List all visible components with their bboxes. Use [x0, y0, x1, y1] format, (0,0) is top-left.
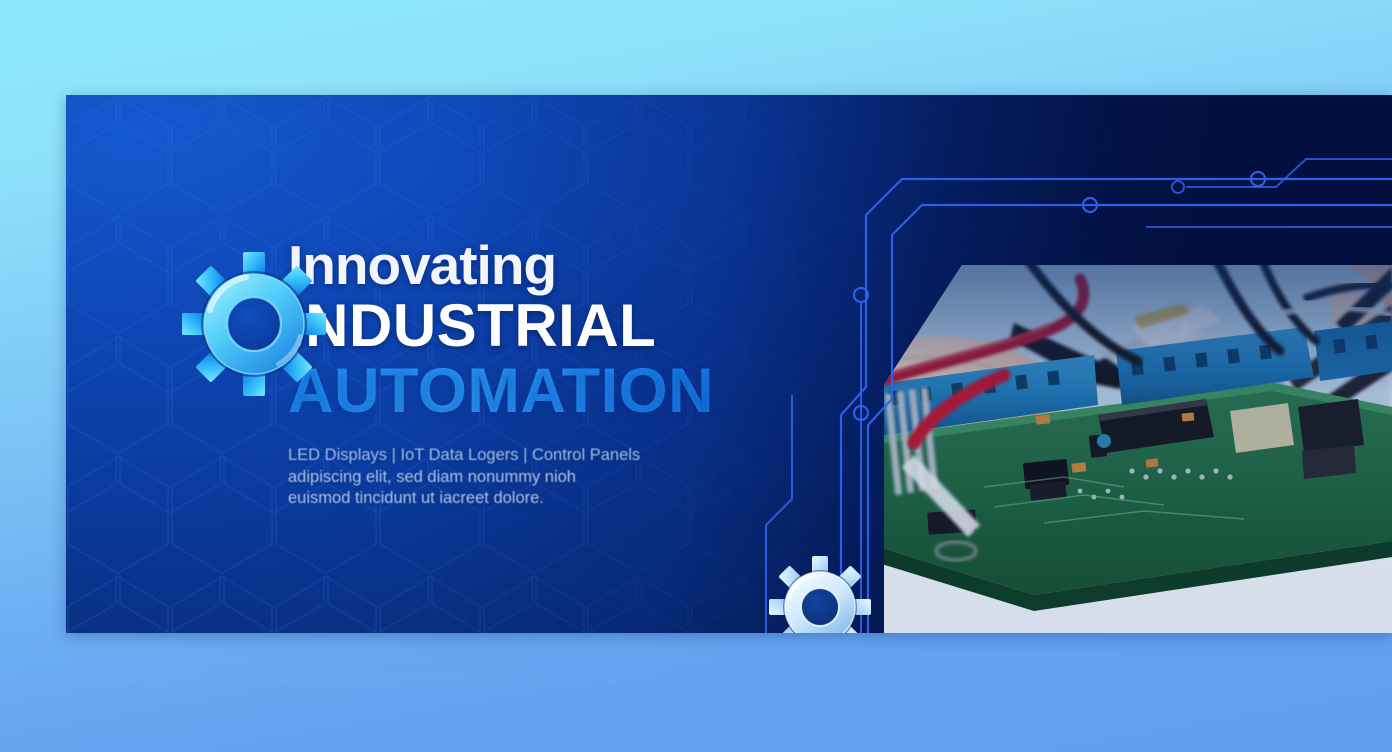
subtext-line-2: adipiscing elit, sed diam nonummy nioh: [288, 467, 628, 488]
gear-icon: [769, 556, 871, 633]
hero-subtext: LED Displays | IoT Data Logers | Control…: [288, 445, 628, 509]
headline-line-2: INDUSTRIAL: [288, 294, 768, 358]
hero-banner: Innovating INDUSTRIAL AUTOMATION LED Dis…: [66, 95, 1392, 633]
hero-text-block: Innovating INDUSTRIAL AUTOMATION LED Dis…: [288, 237, 768, 510]
page-root: innovating industrial automation led dis…: [0, 0, 1392, 752]
headline-line-1: Innovating: [288, 237, 768, 294]
subtext-line-1: LED Displays | IoT Data Logers | Control…: [288, 445, 628, 466]
pcb-photo: [884, 265, 1392, 633]
headline-line-3: AUTOMATION: [288, 357, 768, 425]
background-watermark-text: innovating industrial automation led dis…: [0, 672, 1392, 688]
subtext-line-3: euismod tincidunt ut iacreet dolore.: [288, 488, 628, 509]
